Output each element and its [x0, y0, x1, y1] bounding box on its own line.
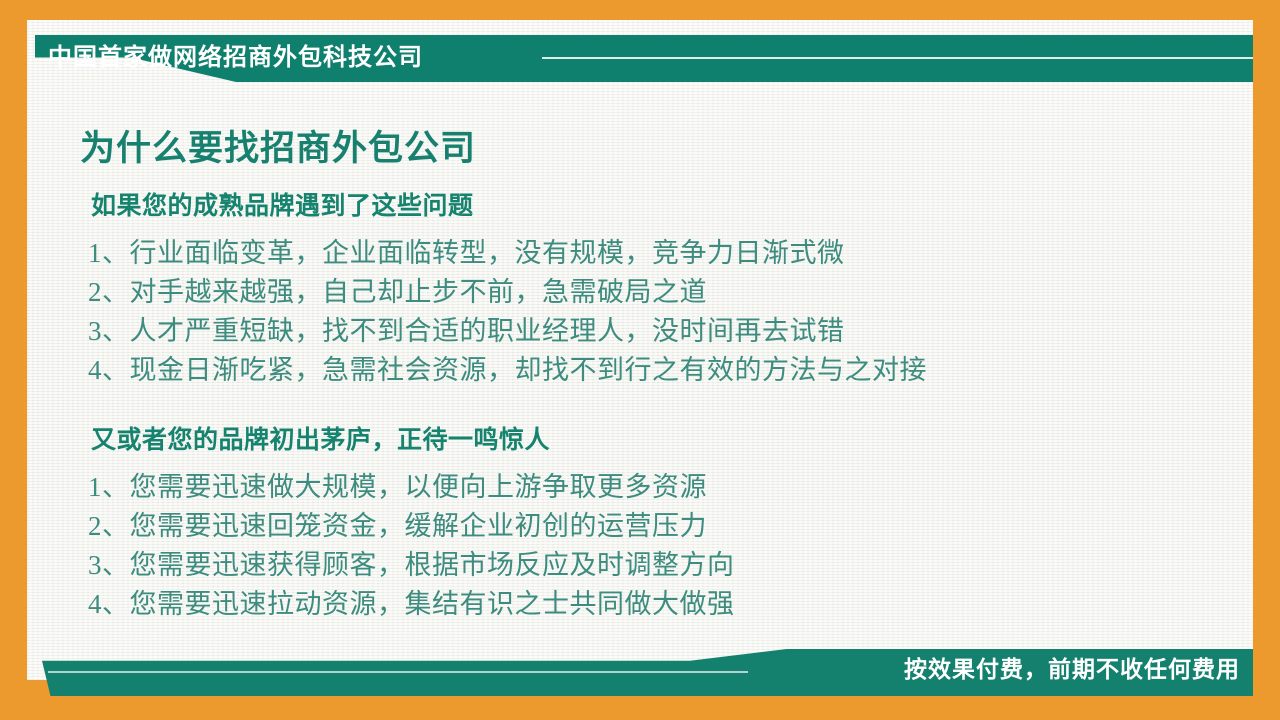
footer-tagline: 按效果付费，前期不收任何费用 [904, 653, 1240, 685]
problem-list-1: 1、行业面临变革，企业面临转型，没有规模，竞争力日渐式微 2、对手越来越强，自己… [88, 234, 927, 390]
list-item: 2、对手越来越强，自己却止步不前，急需破局之道 [88, 273, 927, 312]
list-item: 3、人才严重短缺，找不到合适的职业经理人，没时间再去试错 [88, 312, 927, 351]
header-divider-line [542, 57, 1253, 59]
footer-divider-line [48, 671, 748, 673]
header-title: 中国首家做网络招商外包科技公司 [48, 41, 423, 75]
list-item: 4、您需要迅速拉动资源，集结有识之士共同做大做强 [88, 585, 735, 624]
slide-canvas: 中国首家做网络招商外包科技公司 为什么要找招商外包公司 如果您的成熟品牌遇到了这… [0, 0, 1280, 720]
section-heading-1: 如果您的成熟品牌遇到了这些问题 [91, 186, 927, 222]
page-title: 为什么要找招商外包公司 [80, 120, 476, 171]
list-item: 2、您需要迅速回笼资金，缓解企业初创的运营压力 [88, 507, 735, 546]
problem-list-2: 1、您需要迅速做大规模，以便向上游争取更多资源 2、您需要迅速回笼资金，缓解企业… [88, 468, 735, 624]
section-mature-brand: 如果您的成熟品牌遇到了这些问题 1、行业面临变革，企业面临转型，没有规模，竞争力… [88, 186, 927, 390]
section-heading-2: 又或者您的品牌初出茅庐，正待一鸣惊人 [91, 420, 735, 456]
list-item: 1、行业面临变革，企业面临转型，没有规模，竞争力日渐式微 [88, 234, 927, 273]
list-item: 1、您需要迅速做大规模，以便向上游争取更多资源 [88, 468, 735, 507]
section-new-brand: 又或者您的品牌初出茅庐，正待一鸣惊人 1、您需要迅速做大规模，以便向上游争取更多… [88, 420, 735, 624]
list-item: 4、现金日渐吃紧，急需社会资源，却找不到行之有效的方法与之对接 [88, 351, 927, 390]
list-item: 3、您需要迅速获得顾客，根据市场反应及时调整方向 [88, 546, 735, 585]
